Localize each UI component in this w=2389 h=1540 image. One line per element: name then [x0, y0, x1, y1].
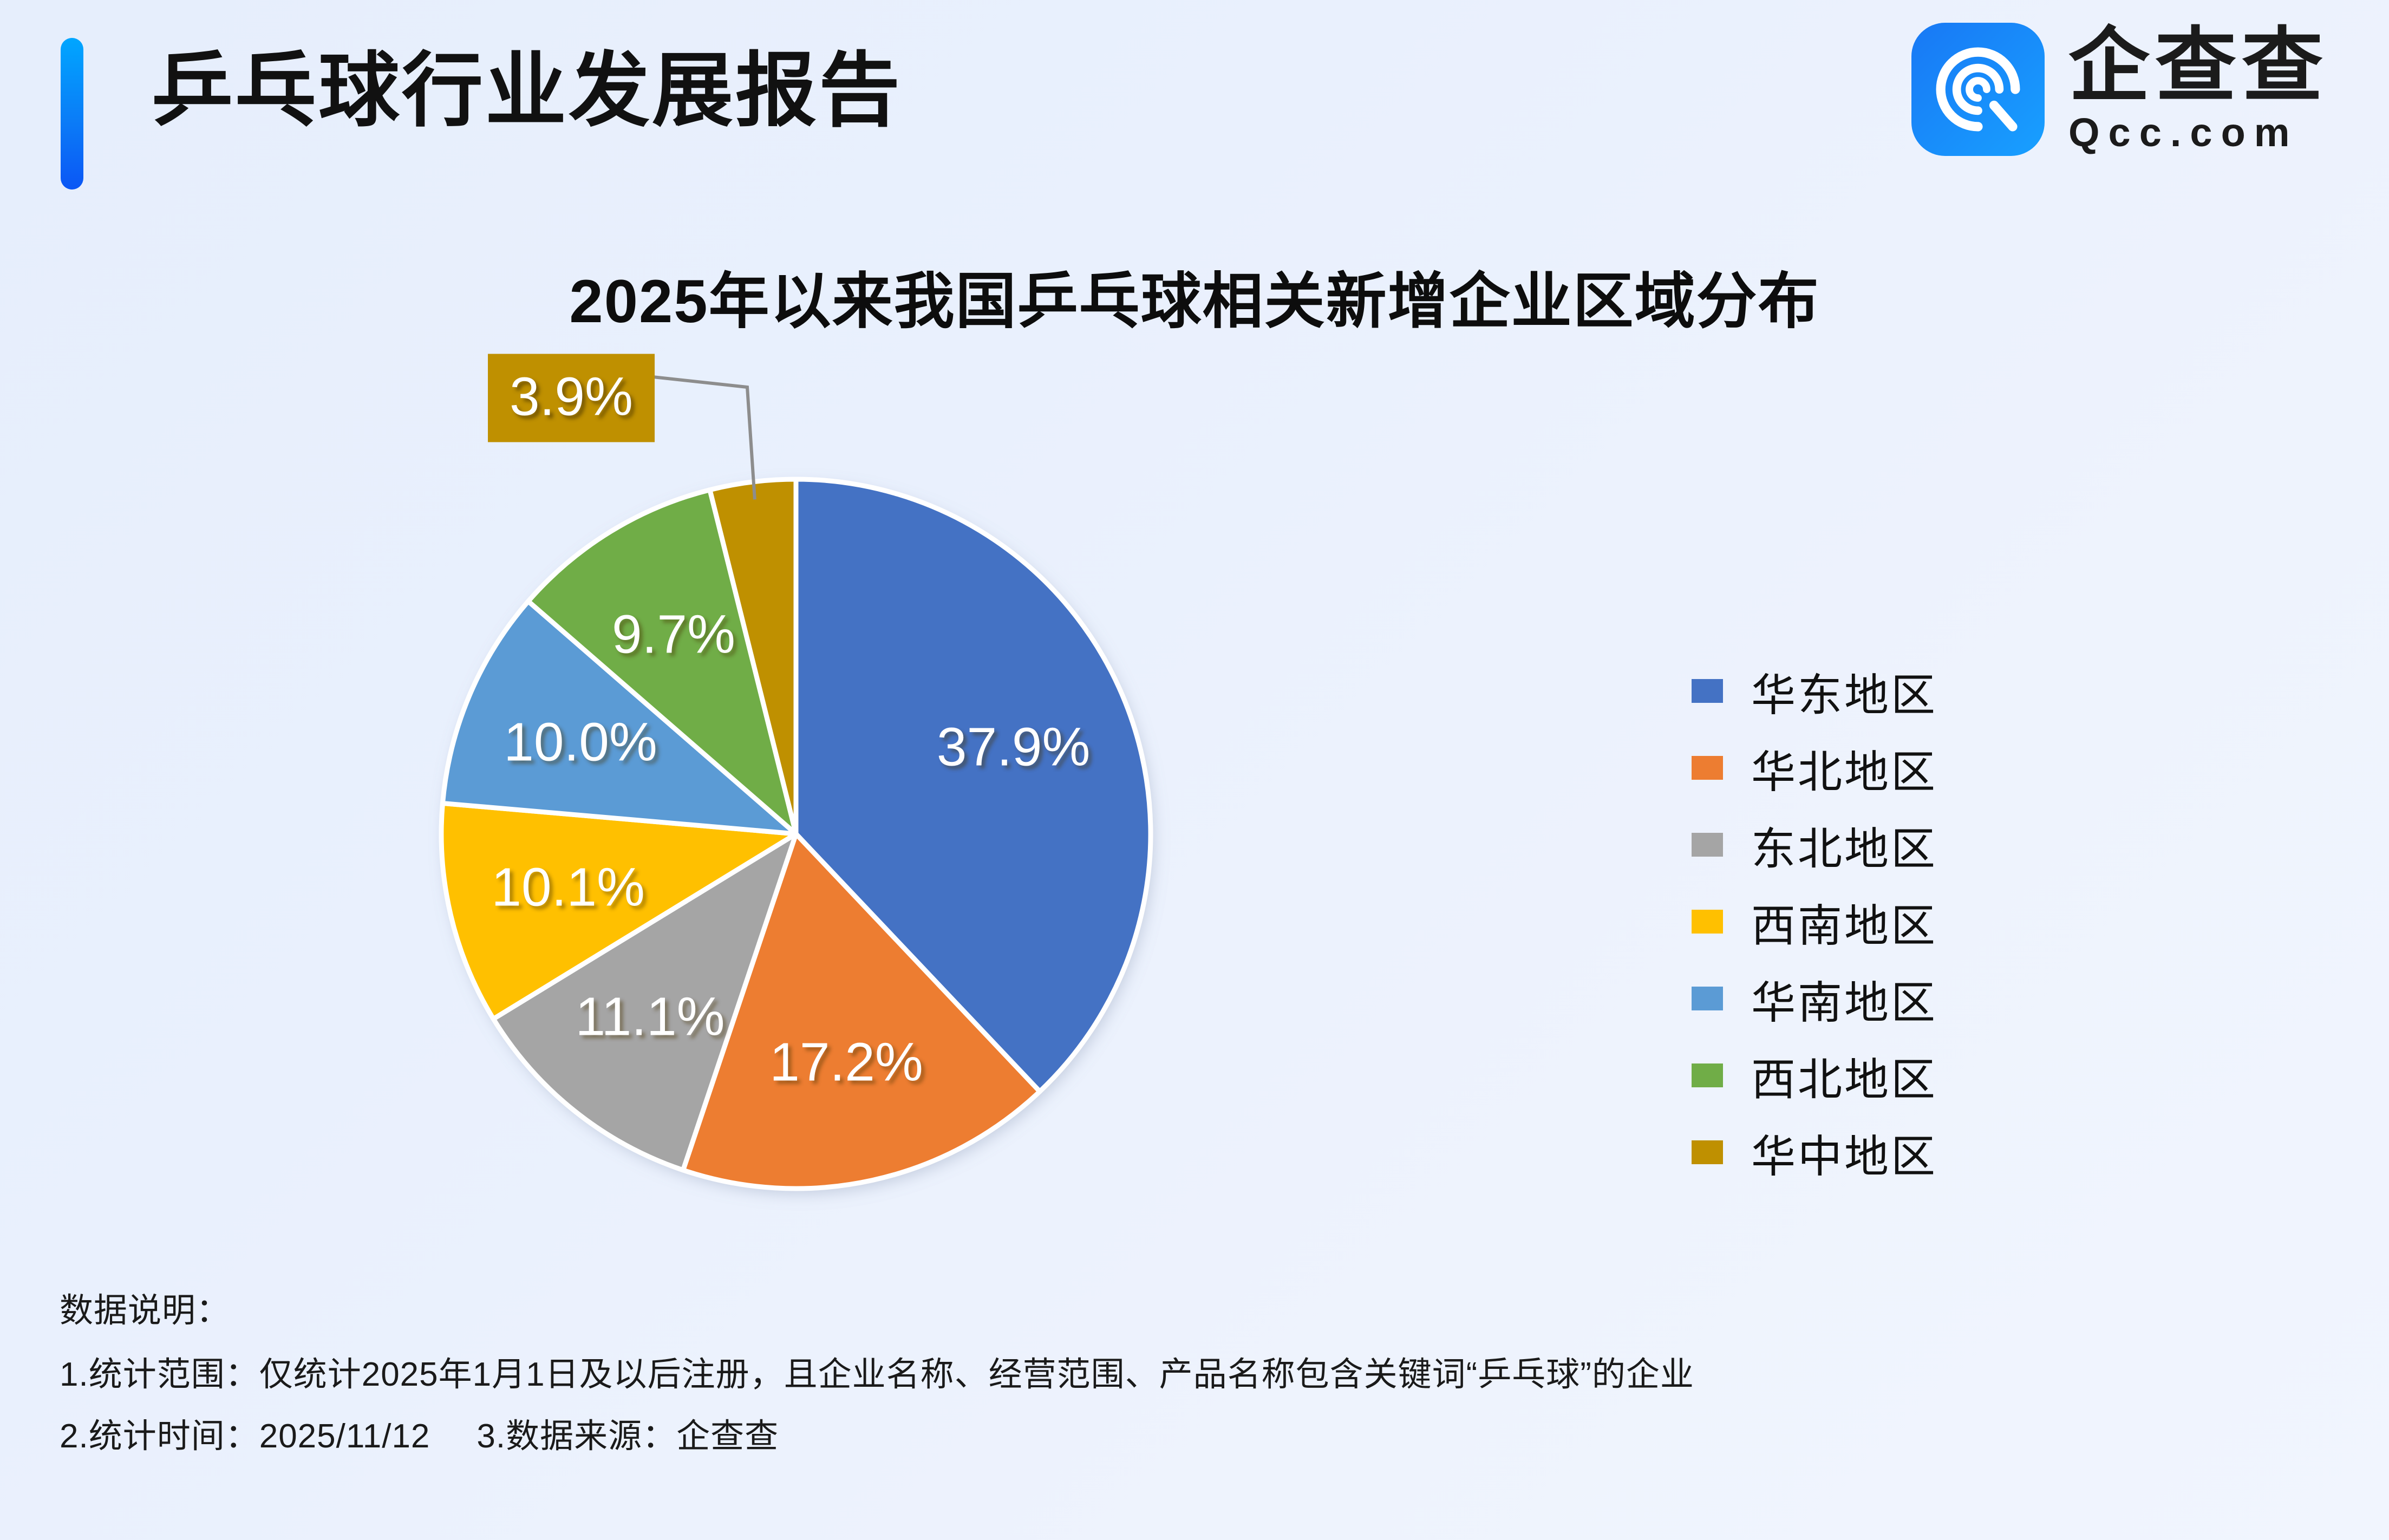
legend-swatch — [1692, 1063, 1723, 1087]
brand-name-cn: 企查查 — [2068, 24, 2328, 107]
legend-swatch — [1692, 987, 1723, 1010]
brand-text: 企查查 Qcc.com — [2068, 24, 2328, 154]
qcc-spiral-q-icon — [1911, 23, 2045, 156]
notes-source: 3.数据来源：企查查 — [477, 1418, 779, 1455]
legend-item[interactable]: 华南地区 — [1692, 960, 1937, 1037]
legend-label: 西北地区 — [1751, 1043, 1937, 1108]
legend-label: 华东地区 — [1751, 659, 1937, 723]
header-accent-bar — [61, 38, 83, 190]
legend-swatch — [1692, 679, 1723, 703]
chart-legend: 华东地区华北地区东北地区西南地区华南地区西北地区华中地区 — [1692, 652, 1937, 1191]
data-notes: 数据说明： 1.统计范围：仅统计2025年1月1日及以后注册，且企业名称、经营范… — [60, 1294, 1694, 1453]
pie-chart-svg — [319, 347, 1283, 1321]
legend-label: 华中地区 — [1751, 1120, 1937, 1185]
legend-item[interactable]: 东北地区 — [1692, 806, 1937, 883]
pie-callout-label: 3.9% — [488, 354, 655, 442]
legend-item[interactable]: 华北地区 — [1692, 729, 1937, 806]
notes-line-1: 1.统计范围：仅统计2025年1月1日及以后注册，且企业名称、经营范围、产品名称… — [60, 1358, 1694, 1392]
legend-item[interactable]: 华中地区 — [1692, 1114, 1937, 1191]
brand-name-en: Qcc.com — [2068, 110, 2328, 154]
notes-line-2: 2.统计时间：2025/11/123.数据来源：企查查 — [60, 1420, 1694, 1453]
chart-title: 2025年以来我国乒乓球相关新增企业区域分布 — [0, 252, 2389, 340]
page-title: 乒乓球行业发展报告 — [152, 50, 902, 131]
legend-swatch — [1692, 1140, 1723, 1164]
legend-item[interactable]: 华东地区 — [1692, 652, 1937, 729]
legend-swatch — [1692, 910, 1723, 934]
notes-heading: 数据说明： — [60, 1294, 1694, 1328]
legend-label: 东北地区 — [1751, 813, 1937, 877]
legend-swatch — [1692, 833, 1723, 857]
pie-chart: 37.9%17.2%11.1%10.1%10.0%9.7%3.9% — [417, 433, 1186, 1235]
legend-item[interactable]: 西南地区 — [1692, 883, 1937, 960]
legend-swatch — [1692, 756, 1723, 780]
legend-item[interactable]: 西北地区 — [1692, 1037, 1937, 1114]
legend-label: 华南地区 — [1751, 967, 1937, 1031]
brand-logo[interactable]: 企查查 Qcc.com — [1911, 23, 2328, 156]
legend-label: 西南地区 — [1751, 890, 1937, 954]
report-canvas: 乒乓球行业发展报告 企查查 Qcc.com 2025年以来我国乒乓球相关新增企业… — [0, 0, 2389, 1540]
notes-stat-time: 2.统计时间：2025/11/12 — [60, 1418, 430, 1455]
legend-label: 华北地区 — [1751, 736, 1937, 800]
